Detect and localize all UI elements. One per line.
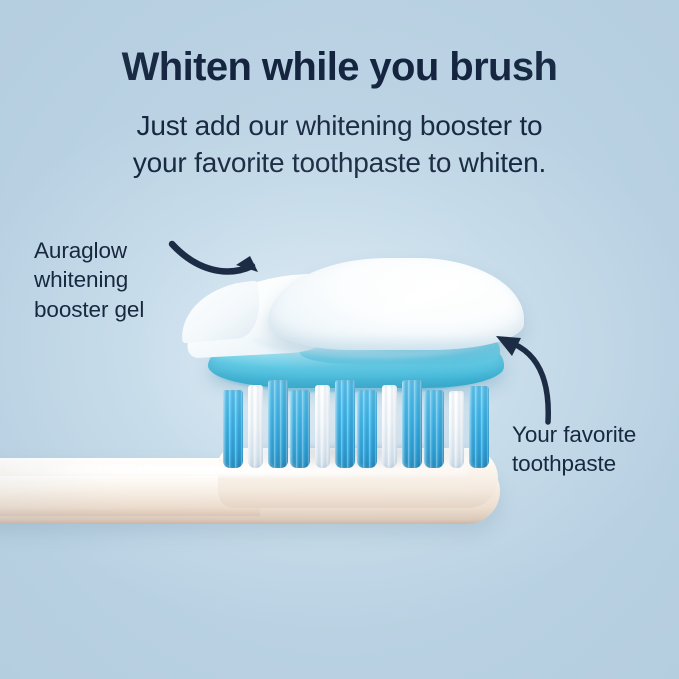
bristle-tuft — [290, 390, 310, 468]
page-subtitle: Just add our whitening booster to your f… — [0, 108, 679, 182]
bristle-tuft — [424, 390, 444, 468]
bristle-tuft — [248, 385, 263, 468]
page-title: Whiten while you brush — [0, 46, 679, 89]
subtitle-line-1: Just add our whitening booster to — [137, 110, 543, 141]
bristle-tuft — [449, 391, 464, 468]
bristle-tuft — [357, 390, 377, 468]
bristle-tuft — [402, 380, 422, 468]
annotation-label-gel: Auraglow whitening booster gel — [34, 236, 144, 324]
bristle-tuft — [268, 380, 288, 468]
annotation-label-toothpaste: Your favorite toothpaste — [512, 420, 636, 479]
bristle-tuft — [382, 385, 397, 468]
bristle-tuft — [469, 386, 489, 468]
bristle-tuft — [223, 390, 243, 468]
bristle-tuft — [335, 380, 355, 468]
bristle-tuft — [315, 385, 330, 468]
infographic-canvas: Whiten while you brush Just add our whit… — [0, 0, 679, 679]
subtitle-line-2: your favorite toothpaste to whiten. — [0, 145, 679, 182]
